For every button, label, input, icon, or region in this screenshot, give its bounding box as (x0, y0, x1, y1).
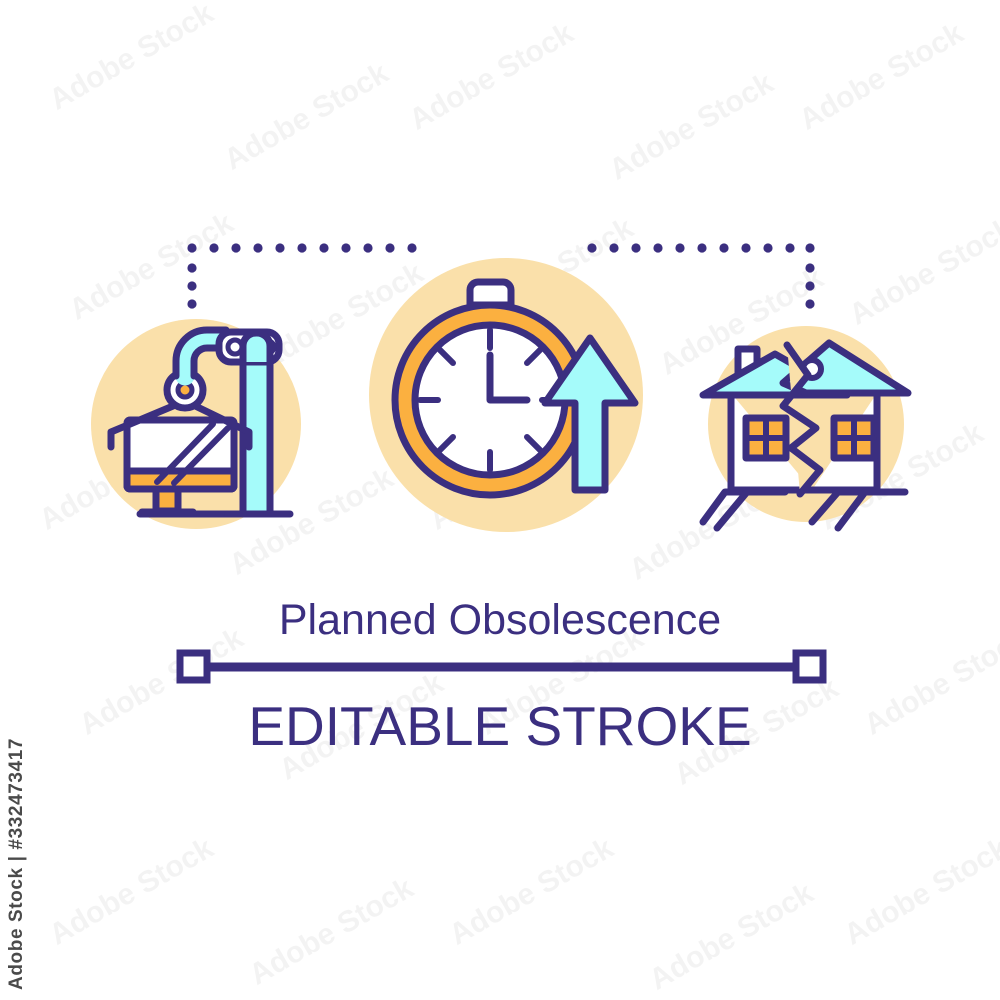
dotted-bracket-right (587, 243, 814, 308)
illustration-canvas: Adobe StockAdobe StockAdobe StockAdobe S… (0, 0, 1000, 1000)
house-window-left (746, 418, 786, 458)
square-handle-left[interactable] (180, 653, 207, 680)
editable-stroke-ruler (180, 653, 823, 680)
subtitle: EDITABLE STROKE (248, 695, 751, 757)
house-window-right (834, 418, 874, 458)
page-title: Planned Obsolescence (279, 596, 721, 644)
dotted-bracket-left (187, 243, 416, 308)
square-handle-right[interactable] (796, 653, 823, 680)
concept-icon-artboard: Planned Obsolescence EDITABLE STROKE (0, 0, 1000, 1000)
robot-column-cap (243, 333, 270, 362)
